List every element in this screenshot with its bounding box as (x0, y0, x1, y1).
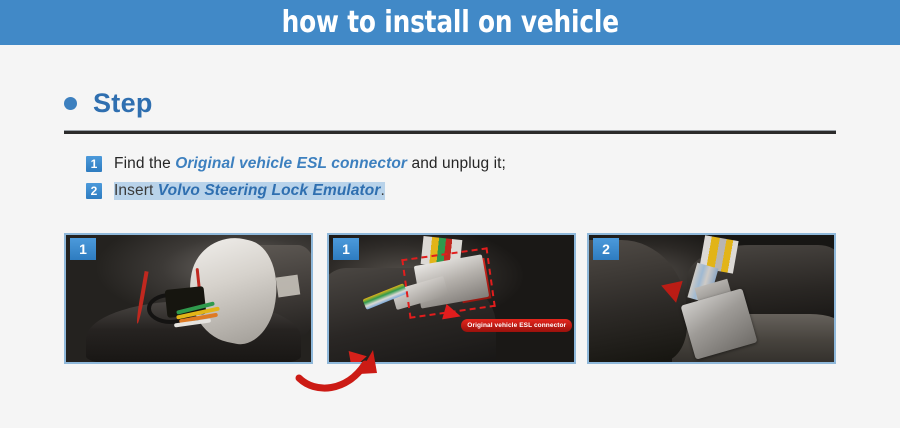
photo-strip: 1 Original vehicle ESL connector 1 (64, 233, 836, 364)
step-text-before: Find the (114, 155, 175, 172)
step-number-badge: 2 (86, 183, 102, 199)
heading-divider (64, 130, 836, 134)
photo-badge: 1 (70, 238, 96, 260)
page-header: how to install on vehicle (0, 0, 900, 45)
step-text-after: and unplug it; (407, 155, 506, 172)
step-text-after: . (381, 182, 385, 199)
step-heading-label: Step (93, 88, 153, 119)
step-text-before: Insert (114, 182, 158, 199)
bullet-dot-icon (64, 97, 77, 110)
step-number-badge: 1 (86, 156, 102, 172)
photo-1-scene (66, 235, 311, 362)
photo-badge: 1 (333, 238, 359, 260)
step-text-accent: Original vehicle ESL connector (175, 155, 407, 172)
step-text: Insert Volvo Steering Lock Emulator. (114, 182, 385, 200)
steps-list: 1 Find the Original vehicle ESL connecto… (86, 150, 846, 204)
photo-3-scene (589, 235, 834, 362)
photo-2: Original vehicle ESL connector 1 (327, 233, 576, 364)
step-text-accent: Volvo Steering Lock Emulator (158, 182, 381, 199)
page-title: how to install on vehicle (281, 5, 618, 40)
photo-1: 1 (64, 233, 313, 364)
list-item: 2 Insert Volvo Steering Lock Emulator. (86, 177, 846, 204)
photo-callout-label: Original vehicle ESL connector (461, 319, 572, 332)
photo-2-scene: Original vehicle ESL connector (329, 235, 574, 362)
step-section-heading: Step (64, 88, 153, 119)
photo-badge: 2 (593, 238, 619, 260)
label-sticker (275, 274, 300, 297)
step-text: Find the Original vehicle ESL connector … (114, 155, 506, 173)
list-item: 1 Find the Original vehicle ESL connecto… (86, 150, 846, 177)
flow-arrow-icon (295, 348, 385, 394)
photo-3: 2 (587, 233, 836, 364)
